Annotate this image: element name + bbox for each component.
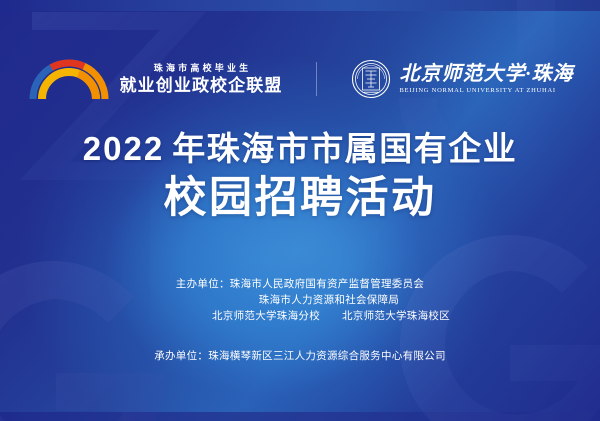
organizer-name-3a: 北京师范大学珠海分校: [212, 310, 320, 322]
university-name-en: BEIJING NORMAL UNIVERSITY AT ZHUHAI: [399, 88, 573, 95]
logo-row: 珠海市高校毕业生 就业创业政校企联盟 北京: [0, 57, 600, 101]
alliance-subtitle: 珠海市高校毕业生: [151, 64, 252, 73]
title-year: 2022: [83, 130, 164, 167]
organizer-line-1: 主办单位：珠海市人民政府国有资产监督管理委员会: [0, 276, 600, 292]
logo-divider: [316, 62, 317, 96]
organizer-label: 主办单位：: [176, 278, 230, 290]
host-label: 承办单位：: [154, 350, 208, 362]
organizer-line-3: 北京师范大学珠海分校北京师范大学珠海校区: [0, 308, 600, 324]
poster-banner: 珠海市高校毕业生 就业创业政校企联盟 北京: [0, 0, 600, 421]
organizer-name-3b: 北京师范大学珠海校区: [342, 310, 450, 322]
organizer-line-2: 珠海市人力资源和社会保障局: [0, 292, 600, 308]
organizer-name-1: 珠海市人民政府国有资产监督管理委员会: [230, 278, 424, 290]
alliance-title: 就业创业政校企联盟: [120, 77, 283, 94]
alliance-logo: 珠海市高校毕业生 就业创业政校企联盟: [27, 57, 283, 101]
poster-content: 珠海市高校毕业生 就业创业政校企联盟 北京: [0, 0, 600, 421]
title-block: 2022年珠海市市属国有企业 校园招聘活动: [0, 132, 600, 224]
organizers-block: 主办单位：珠海市人民政府国有资产监督管理委员会 珠海市人力资源和社会保障局 北京…: [0, 276, 600, 324]
university-logo-text: 北京师范大学·珠海 BEIJING NORMAL UNIVERSITY AT Z…: [399, 64, 573, 95]
rainbow-arch-icon: [27, 57, 111, 101]
bnu-seal-icon: [351, 59, 391, 99]
title-line-2: 校园招聘活动: [0, 173, 600, 224]
title-line-1-rest: 年珠海市市属国有企业: [172, 130, 517, 167]
host-name: 珠海横琴新区三江人力资源综合服务中心有限公司: [208, 350, 446, 362]
university-logo: 北京师范大学·珠海 BEIJING NORMAL UNIVERSITY AT Z…: [351, 59, 573, 99]
university-name-cn: 北京师范大学·珠海: [399, 64, 573, 84]
host-line: 承办单位：珠海横琴新区三江人力资源综合服务中心有限公司: [0, 348, 600, 364]
title-line-1: 2022年珠海市市属国有企业: [0, 132, 600, 167]
host-block: 承办单位：珠海横琴新区三江人力资源综合服务中心有限公司: [0, 348, 600, 364]
alliance-logo-text: 珠海市高校毕业生 就业创业政校企联盟: [120, 64, 283, 94]
